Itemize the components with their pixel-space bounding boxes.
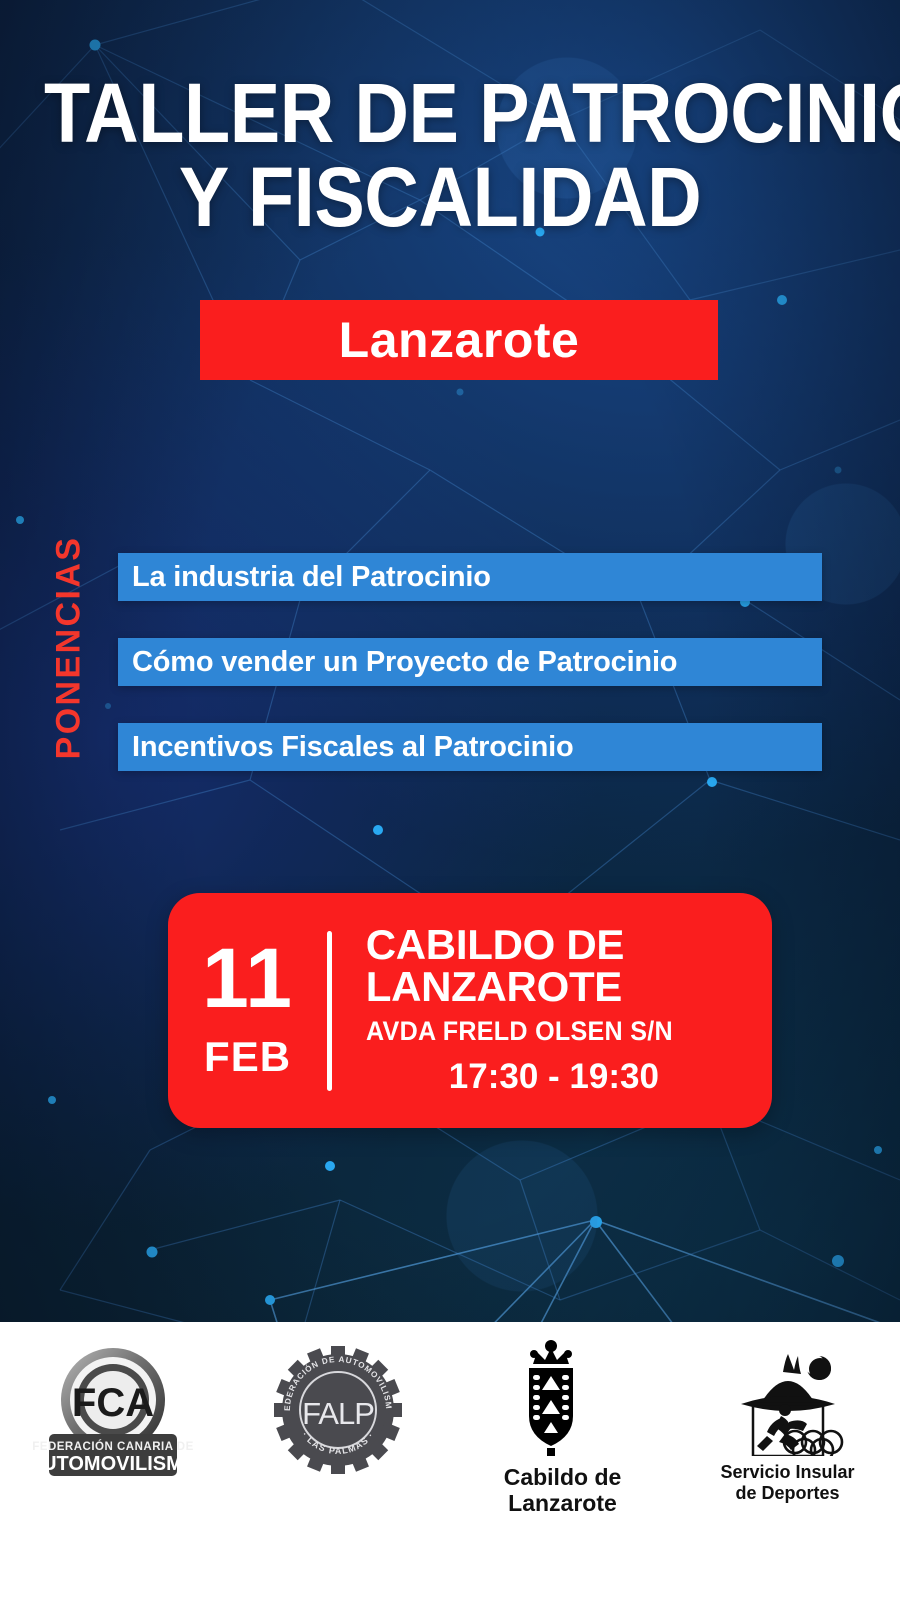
logo-servicio-insular-deportes: Servicio Insular de Deportes: [688, 1338, 888, 1503]
logo-cabildo-lanzarote: Cabildo de Lanzarote: [463, 1338, 663, 1517]
event-day: 11: [202, 940, 293, 1017]
event-date: 11 FEB: [168, 940, 327, 1081]
logo-fca: FCA FEDERACIÓN CANARIA DE AUTOMOVILISMO: [13, 1338, 213, 1488]
event-address: AVDA FRELD OLSEN S/N: [366, 1016, 744, 1047]
ponencia-item: Cómo vender un Proyecto de Patrocinio: [118, 638, 822, 686]
poster-title: TALLER DE PATROCINIO Y FISCALIDAD: [0, 74, 900, 236]
logo-caption-line1: Servicio Insular: [720, 1462, 854, 1483]
ponencia-item: La industria del Patrocinio: [118, 553, 822, 601]
ponencias-list: La industria del Patrocinio Cómo vender …: [118, 553, 822, 808]
event-month: FEB: [204, 1033, 291, 1081]
volcano-runner-rings-icon: [723, 1338, 853, 1456]
event-poster: TALLER DE PATROCINIO Y FISCALIDAD Lanzar…: [0, 0, 900, 1600]
svg-text:FALP: FALP: [302, 1396, 374, 1431]
cabildo-crest-icon: [503, 1338, 623, 1458]
title-line-2: Y FISCALIDAD: [85, 158, 816, 236]
event-details-card: 11 FEB CABILDO DE LANZAROTE AVDA FRELD O…: [168, 893, 772, 1128]
event-venue: CABILDO DE LANZAROTE: [366, 924, 772, 1008]
svg-text:FCA: FCA: [71, 1381, 153, 1425]
event-venue-block: CABILDO DE LANZAROTE AVDA FRELD OLSEN S/…: [366, 924, 772, 1097]
ponencias-section-label: PONENCIAS: [50, 503, 89, 793]
logo-falp: · FEDERACIÓN DE AUTOMOVILISMO · · LAS PA…: [238, 1338, 438, 1483]
logo-caption-line1: Cabildo de: [504, 1464, 622, 1490]
fca-badge-icon: FCA FEDERACIÓN CANARIA DE AUTOMOVILISMO: [33, 1338, 193, 1488]
card-divider: [327, 931, 332, 1091]
location-banner-label: Lanzarote: [339, 311, 580, 369]
falp-gear-icon: · FEDERACIÓN DE AUTOMOVILISMO · · LAS PA…: [268, 1338, 408, 1483]
svg-text:FEDERACIÓN CANARIA DE: FEDERACIÓN CANARIA DE: [33, 1440, 193, 1453]
ponencia-label: Incentivos Fiscales al Patrocinio: [132, 731, 573, 764]
logo-caption-line2: Lanzarote: [504, 1490, 622, 1516]
logo-caption-line2: de Deportes: [720, 1483, 854, 1504]
title-line-1: TALLER DE PATROCINIO: [44, 74, 775, 152]
sponsor-footer: FCA FEDERACIÓN CANARIA DE AUTOMOVILISMO: [0, 1322, 900, 1600]
location-banner: Lanzarote: [200, 300, 718, 380]
ponencia-label: Cómo vender un Proyecto de Patrocinio: [132, 646, 677, 679]
ponencia-label: La industria del Patrocinio: [132, 561, 491, 594]
ponencia-item: Incentivos Fiscales al Patrocinio: [118, 723, 822, 771]
event-time: 17:30 - 19:30: [366, 1057, 772, 1097]
svg-text:AUTOMOVILISMO: AUTOMOVILISMO: [33, 1453, 193, 1475]
